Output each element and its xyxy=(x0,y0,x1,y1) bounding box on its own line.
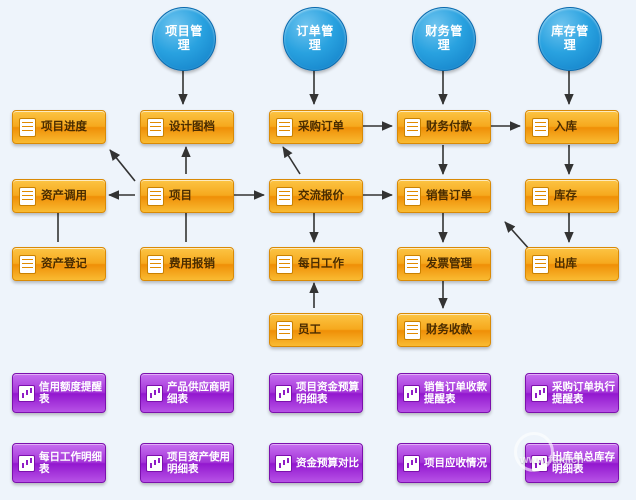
chart-icon xyxy=(403,455,420,472)
node-circle-project-management[interactable]: 项目管理 xyxy=(152,7,216,71)
diagram-canvas: 项目管理 订单管理 财务管理 库存管理 项目进度 设计图档 采购订单 财务付款 … xyxy=(0,0,636,500)
list-icon xyxy=(276,187,293,206)
node-box-label: 费用报销 xyxy=(169,258,233,271)
report-box-label: 每日工作明细表 xyxy=(39,451,105,475)
chart-icon xyxy=(403,385,420,402)
list-icon xyxy=(532,118,549,137)
node-box-finance-payment[interactable]: 财务付款 xyxy=(397,110,491,144)
chart-icon xyxy=(275,455,292,472)
report-box-label: 采购订单执行提醒表 xyxy=(552,381,618,405)
report-box-label: 项目应收情况 xyxy=(424,457,490,469)
node-circle-label: 库存管理 xyxy=(546,25,594,53)
list-icon xyxy=(147,255,164,274)
list-icon xyxy=(147,118,164,137)
report-box-purchase-order-execution-reminder[interactable]: 采购订单执行提醒表 xyxy=(525,373,619,413)
list-icon xyxy=(276,255,293,274)
list-icon xyxy=(276,321,293,340)
node-box-label: 交流报价 xyxy=(298,190,362,203)
node-box-inventory[interactable]: 库存 xyxy=(525,179,619,213)
node-box-employee[interactable]: 员工 xyxy=(269,313,363,347)
watermark: www.fdkj.cn xyxy=(514,432,632,474)
chart-icon xyxy=(531,385,548,402)
list-icon xyxy=(532,187,549,206)
watermark-logo-icon xyxy=(514,432,554,472)
node-box-finance-receipt[interactable]: 财务收款 xyxy=(397,313,491,347)
node-box-label: 财务付款 xyxy=(426,121,490,134)
node-box-asset-registration[interactable]: 资产登记 xyxy=(12,247,106,281)
list-icon xyxy=(19,187,36,206)
report-box-sales-order-receipt-reminder[interactable]: 销售订单收款提醒表 xyxy=(397,373,491,413)
chart-icon xyxy=(146,385,163,402)
node-box-invoice-management[interactable]: 发票管理 xyxy=(397,247,491,281)
node-box-label: 采购订单 xyxy=(298,121,362,134)
node-box-label: 资产调用 xyxy=(41,190,105,203)
list-icon xyxy=(404,187,421,206)
report-box-project-budget-detail[interactable]: 项目资金预算明细表 xyxy=(269,373,363,413)
node-box-stock-in[interactable]: 入库 xyxy=(525,110,619,144)
report-box-label: 资金预算对比 xyxy=(296,457,362,469)
report-box-label: 项目资金预算明细表 xyxy=(296,381,362,405)
list-icon xyxy=(276,118,293,137)
node-box-label: 入库 xyxy=(554,121,618,134)
node-box-label: 出库 xyxy=(554,258,618,271)
watermark-text: www.fdkj.cn xyxy=(520,454,584,466)
list-icon xyxy=(404,118,421,137)
node-circle-finance-management[interactable]: 财务管理 xyxy=(412,7,476,71)
node-box-label: 库存 xyxy=(554,190,618,203)
chart-icon xyxy=(146,455,163,472)
chart-icon xyxy=(18,455,35,472)
node-box-communication-quote[interactable]: 交流报价 xyxy=(269,179,363,213)
report-box-credit-limit-reminder[interactable]: 信用额度提醒表 xyxy=(12,373,106,413)
list-icon xyxy=(404,255,421,274)
node-box-project[interactable]: 项目 xyxy=(140,179,234,213)
list-icon xyxy=(19,255,36,274)
report-box-product-supplier-detail[interactable]: 产品供应商明细表 xyxy=(140,373,234,413)
report-box-label: 项目资产使用明细表 xyxy=(167,451,233,475)
report-box-daily-work-detail[interactable]: 每日工作明细表 xyxy=(12,443,106,483)
node-box-sales-order[interactable]: 销售订单 xyxy=(397,179,491,213)
chart-icon xyxy=(275,385,292,402)
node-box-label: 财务收款 xyxy=(426,324,490,337)
node-box-expense-reimbursement[interactable]: 费用报销 xyxy=(140,247,234,281)
list-icon xyxy=(19,118,36,137)
node-box-label: 每日工作 xyxy=(298,258,362,271)
list-icon xyxy=(404,321,421,340)
node-box-label: 项目进度 xyxy=(41,121,105,134)
node-box-daily-work[interactable]: 每日工作 xyxy=(269,247,363,281)
node-box-label: 销售订单 xyxy=(426,190,490,203)
chart-icon xyxy=(18,385,35,402)
node-box-label: 员工 xyxy=(298,324,362,337)
report-box-label: 产品供应商明细表 xyxy=(167,381,233,405)
node-box-purchase-order[interactable]: 采购订单 xyxy=(269,110,363,144)
node-circle-label: 财务管理 xyxy=(420,25,468,53)
report-box-label: 信用额度提醒表 xyxy=(39,381,105,405)
node-box-label: 发票管理 xyxy=(426,258,490,271)
node-box-design-documents[interactable]: 设计图档 xyxy=(140,110,234,144)
report-box-project-asset-usage-detail[interactable]: 项目资产使用明细表 xyxy=(140,443,234,483)
node-box-label: 项目 xyxy=(169,190,233,203)
node-circle-inventory-management[interactable]: 库存管理 xyxy=(538,7,602,71)
report-box-label: 销售订单收款提醒表 xyxy=(424,381,490,405)
report-box-budget-comparison[interactable]: 资金预算对比 xyxy=(269,443,363,483)
node-circle-order-management[interactable]: 订单管理 xyxy=(283,7,347,71)
node-circle-label: 订单管理 xyxy=(291,25,339,53)
node-box-label: 资产登记 xyxy=(41,258,105,271)
node-box-stock-out[interactable]: 出库 xyxy=(525,247,619,281)
node-circle-label: 项目管理 xyxy=(160,25,208,53)
node-box-label: 设计图档 xyxy=(169,121,233,134)
list-icon xyxy=(147,187,164,206)
report-box-project-receivables[interactable]: 项目应收情况 xyxy=(397,443,491,483)
node-box-project-progress[interactable]: 项目进度 xyxy=(12,110,106,144)
list-icon xyxy=(532,255,549,274)
node-box-asset-allocation[interactable]: 资产调用 xyxy=(12,179,106,213)
